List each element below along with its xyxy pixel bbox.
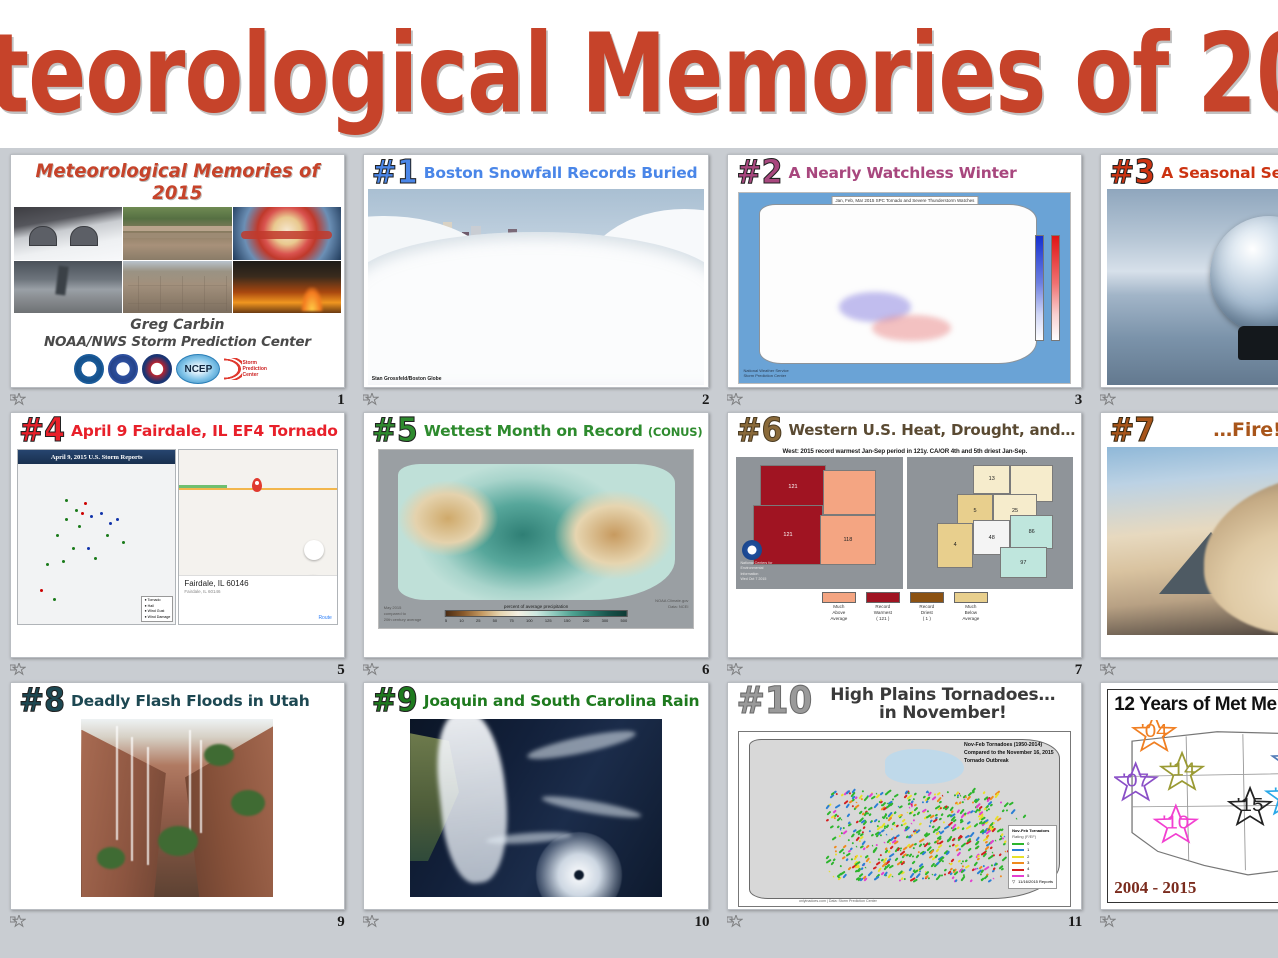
hurricane-eye: [536, 832, 622, 897]
slide5-hash-number: #4: [19, 416, 65, 447]
slide11-title-line2: in November!: [879, 705, 1007, 723]
map-source: NOAA Climate.gov Data: NCEI: [655, 598, 688, 610]
slide6-title: Wettest Month on Record: [424, 422, 643, 440]
slide8-title: …Fire!: [1213, 421, 1278, 441]
slide-thumbnail-7[interactable]: #6 Western U.S. Heat, Drought, and… West…: [727, 412, 1082, 658]
star-rating-icon[interactable]: [363, 393, 379, 407]
slide1-title: Meteorological Memories of 2015: [22, 158, 332, 207]
year-star-12: [1273, 742, 1278, 778]
slide-number: 6: [702, 662, 710, 679]
slide10-title: Joaquin and South Carolina Rain: [424, 693, 700, 709]
slide8-hash-number: #7: [1109, 416, 1155, 447]
slide4-title-bar: #3 A Seasonal Severe Wx Forecast: [1101, 155, 1278, 189]
slide11-hash-number: #10: [736, 686, 812, 717]
heat-drought-legend: Much Above Average Record Warmest ( 121 …: [728, 592, 1081, 623]
crystal-ball: [1210, 216, 1278, 334]
slide-meta-10: 10: [363, 912, 710, 932]
year-star-label: '10: [1163, 812, 1190, 833]
dry-wa: 13: [973, 465, 1010, 494]
slide-thumbnail-5[interactable]: #4 April 9 Fairdale, IL EF4 Tornado Apri…: [10, 412, 345, 658]
slide-meta-8: 8: [1100, 660, 1278, 680]
spc-logo-text: Storm Prediction Center: [243, 360, 281, 379]
slide9-title-bar: #8 Deadly Flash Floods in Utah: [11, 683, 344, 717]
map-footer: National Weather Service Storm Predictio…: [743, 368, 788, 379]
slide-cell-12: 12 Years of Met Memories '04'07'14'10'15…: [1094, 682, 1278, 934]
place-card: Fairdale, IL 60146 Fairdale, IL 60146 Ro…: [179, 575, 336, 624]
slide6-title-suffix: (CONUS): [648, 425, 703, 439]
slide1-photo-grid: [14, 207, 341, 313]
year-star-label: '07: [1122, 770, 1149, 791]
slide6-hash-number: #5: [372, 416, 418, 447]
photo-wildfire: [233, 261, 341, 314]
slide10-hash-number: #9: [372, 686, 418, 717]
slide12-title: 12 Years of Met Memories: [1114, 694, 1278, 716]
slide-meta-5: 5: [10, 660, 345, 680]
slide-cell-8: #7 …Fire! 8: [1094, 412, 1278, 682]
slide-number: 7: [1075, 662, 1083, 679]
crystal-ball-base: [1238, 326, 1278, 360]
map-met-memories-by-year: '04'07'14'10'15'12'06'05'08'09'11'13: [1114, 720, 1278, 896]
slide8-title-bar: #7 …Fire!: [1101, 413, 1278, 447]
slide-cell-2: #1 Boston Snowfall Records Buried Stan G…: [357, 154, 716, 412]
slide-meta-9: 9: [10, 912, 345, 932]
year-star-label: '15: [1237, 795, 1264, 816]
colorbar-negative: [1035, 235, 1044, 341]
photo-tornado-damage: [14, 261, 122, 314]
legend-item-record-driest: Record Driest ( 1 ): [910, 592, 944, 623]
satellite-image-hurricane-joaquin: [410, 719, 662, 897]
slide3-hash-number: #2: [736, 158, 782, 189]
warm-region-sw: 121: [753, 505, 823, 566]
national-weather-service-logo-icon: [142, 354, 172, 384]
map-source: onlyinadoes.com | Data: Storm Prediction…: [799, 899, 877, 903]
slide-meta-2: 2: [363, 390, 710, 410]
colorbar-positive: [1051, 235, 1060, 341]
warm-region-south: 118: [820, 515, 877, 565]
slide7-hash-number: #6: [736, 416, 782, 447]
slide-number: 1: [337, 392, 345, 409]
slide-thumbnail-1[interactable]: Meteorological Memories of 2015 Greg Car…: [10, 154, 345, 388]
slide-thumbnail-6[interactable]: #5 Wettest Month on Record (CONUS) May 2…: [363, 412, 710, 658]
slide12-year-range: 2004 - 2015: [1114, 878, 1196, 898]
slide-cell-6: #5 Wettest Month on Record (CONUS) May 2…: [357, 412, 716, 682]
place-name: Fairdale, IL 60146: [184, 579, 331, 588]
slide2-hash-number: #1: [372, 158, 418, 189]
star-rating-icon[interactable]: [1100, 393, 1116, 407]
slide-thumbnail-3[interactable]: #2 A Nearly Watchless Winter Jan, Feb, M…: [727, 154, 1082, 388]
legend-item-much-below: Much Below Average: [954, 592, 988, 623]
slide-cell-3: #2 A Nearly Watchless Winter Jan, Feb, M…: [721, 154, 1088, 412]
star-rating-icon[interactable]: [10, 663, 26, 677]
slide6-title-bar: #5 Wettest Month on Record (CONUS): [364, 413, 709, 447]
slide2-title-bar: #1 Boston Snowfall Records Buried: [364, 155, 709, 189]
colorbar-ticks: 510 2550 75100 125150 200300 500: [445, 617, 628, 623]
photo-drought-cracked-earth: [123, 261, 231, 314]
map-percent-of-average-precipitation: May 2015 compared to 20th century averag…: [378, 449, 695, 629]
slide-cell-5: #4 April 9 Fairdale, IL EF4 Tornado Apri…: [4, 412, 351, 682]
agency-label: National Centers for Environmental Infor…: [740, 561, 772, 583]
slide-cell-10: #9 Joaquin and South Carolina Rain 10: [357, 682, 716, 934]
photo-credit: Stan Grossfeld/Boston Globe: [372, 376, 442, 382]
slide-number: 5: [337, 662, 345, 679]
slide-number: 2: [702, 392, 710, 409]
photo-snow-buried-cars: [14, 207, 122, 260]
slide-thumbnail-9[interactable]: #8 Deadly Flash Floods in Utah: [10, 682, 345, 910]
slide5-title: April 9 Fairdale, IL EF4 Tornado: [71, 423, 338, 439]
year-star-label: '05: [1274, 784, 1278, 805]
slide-meta-6: 6: [363, 660, 710, 680]
slide-cell-4: #3 A Seasonal Severe Wx Forecast 4: [1094, 154, 1278, 412]
slide1-organization: NOAA/NWS Storm Prediction Center: [14, 333, 341, 350]
noaa-logo-icon: [108, 354, 138, 384]
photo-zion-flash-flood-waterfalls: [81, 719, 273, 897]
dry-az: 97: [1000, 547, 1047, 579]
slide-cell-7: #6 Western U.S. Heat, Drought, and… West…: [721, 412, 1088, 682]
slide-thumbnail-11[interactable]: #10 High Plains Tornadoes… in November! …: [727, 682, 1082, 910]
year-star-label: '04: [1141, 721, 1168, 742]
star-rating-icon[interactable]: [1100, 915, 1116, 929]
map-caption: Jan, Feb, Mar 2015 SPC Tornado and Sever…: [831, 196, 978, 205]
slide1-author: Greg Carbin: [14, 313, 341, 333]
slide1-logo-row: NCEP Storm Prediction Center: [14, 350, 341, 384]
slide-number: 10: [694, 914, 709, 931]
slide-number: 3: [1075, 392, 1083, 409]
star-rating-icon[interactable]: [10, 915, 26, 929]
map-record-warmth: 121 121 118 National Centers for Environ…: [736, 457, 902, 589]
slide4-hash-number: #3: [1109, 158, 1155, 189]
slide5-title-bar: #4 April 9 Fairdale, IL EF4 Tornado: [11, 413, 344, 447]
slide-meta-11: 11: [727, 912, 1082, 932]
photo-boston-snow-skyline: Stan Grossfeld/Boston Globe: [368, 189, 705, 385]
ncep-logo-icon: NCEP: [176, 354, 220, 384]
warm-region-rockies: [823, 470, 876, 515]
star-rating-icon[interactable]: [363, 663, 379, 677]
heat-drought-maps: 121 121 118 National Centers for Environ…: [736, 457, 1073, 589]
star-rating-icon[interactable]: [1100, 663, 1116, 677]
star-rating-icon[interactable]: [10, 393, 26, 407]
slide-meta-3: 3: [727, 390, 1082, 410]
tornado-legend: Nov-Feb Tornadoes Rating (F/EF) 0 1 2 3 …: [1008, 825, 1057, 889]
smoke-plume: [1204, 473, 1278, 635]
google-map-inset: Fairdale, IL 60146 Fairdale, IL 60146 Ro…: [178, 449, 337, 625]
deck-title-text: Meteorological Memories of 2015: [0, 19, 1278, 129]
slide3-title: A Nearly Watchless Winter: [788, 165, 1016, 181]
slide-thumbnail-2[interactable]: #1 Boston Snowfall Records Buried Stan G…: [363, 154, 710, 388]
dry-ut: 86: [1010, 515, 1053, 549]
slide-meta-4: 4: [1100, 390, 1278, 410]
summary-frame: 12 Years of Met Memories '04'07'14'10'15…: [1107, 689, 1278, 903]
slide7-title: Western U.S. Heat, Drought, and…: [788, 423, 1075, 439]
map-winter-watches: Jan, Feb, Mar 2015 SPC Tornado and Sever…: [738, 192, 1071, 384]
slide-thumbnail-8[interactable]: #7 …Fire!: [1100, 412, 1278, 658]
star-rating-icon[interactable]: [727, 915, 743, 929]
star-rating-icon[interactable]: [727, 663, 743, 677]
slide-grid: Meteorological Memories of 2015 Greg Car…: [0, 148, 1278, 958]
storm-reports-composite: April 9, 2015 U.S. Storm Reports: [17, 449, 338, 625]
map-record-dryness: 13 5 25 4 48 86 97: [907, 457, 1073, 589]
slide-cell-11: #10 High Plains Tornadoes… in November! …: [721, 682, 1088, 934]
slide9-hash-number: #8: [19, 686, 65, 717]
slide-meta-7: 7: [727, 660, 1082, 680]
watch-anomaly-red: [872, 315, 951, 342]
photo-el-nino-sst-globe: [233, 207, 341, 260]
photo-flooded-road: [123, 207, 231, 260]
warm-region-nw: 121: [760, 465, 827, 510]
slide11-title-bar: #10 High Plains Tornadoes… in November!: [728, 683, 1081, 731]
place-subtitle: Fairdale, IL 60146: [184, 589, 331, 594]
air-force-weather-logo-icon: [74, 354, 104, 384]
storm-prediction-center-logo-icon: Storm Prediction Center: [224, 354, 280, 384]
slide-thumbnail-4[interactable]: #3 A Seasonal Severe Wx Forecast: [1100, 154, 1278, 388]
year-star-label: '14: [1169, 760, 1196, 781]
photo-wildfire-smoke-plume: [1107, 447, 1278, 635]
storm-reports-legend: ● Tornado● Hail● Wind Gust● Wind Damage: [141, 596, 173, 622]
slide-cell-1: Meteorological Memories of 2015 Greg Car…: [4, 154, 351, 412]
route-link[interactable]: Route: [318, 615, 331, 621]
storm-reports-header: April 9, 2015 U.S. Storm Reports: [18, 450, 175, 464]
slide-meta-12: 12: [1100, 912, 1278, 932]
year-stars-layer: '04'07'14'10'15'12'06'05'08'09'11'13: [1114, 720, 1278, 896]
recenter-button[interactable]: [304, 540, 324, 560]
slide-number: 9: [337, 914, 345, 931]
photo-crystal-ball-lake: [1107, 189, 1278, 385]
map-note: May 2015 compared to 20th century averag…: [384, 605, 422, 623]
slide-number: 11: [1068, 914, 1082, 931]
deck-title-banner: Meteorological Memories of 2015: [0, 0, 1278, 148]
slide-cell-9: #8 Deadly Flash Floods in Utah 9: [4, 682, 351, 934]
slide9-title: Deadly Flash Floods in Utah: [71, 693, 310, 709]
ncep-logo-text: NCEP: [176, 354, 220, 384]
star-rating-icon[interactable]: [727, 393, 743, 407]
map-nov-feb-tornado-tracks: Nov-Feb Tornadoes (1950-2014) Compared t…: [738, 731, 1071, 907]
slide-meta-1: 1: [10, 390, 345, 410]
slide-thumbnail-10[interactable]: #9 Joaquin and South Carolina Rain: [363, 682, 710, 910]
slide7-title-bar: #6 Western U.S. Heat, Drought, and…: [728, 413, 1081, 447]
map-pin-icon: [252, 478, 262, 492]
dry-ca: 4: [937, 523, 974, 568]
colorbar-title: percent of average precipitation: [445, 604, 628, 609]
precip-colorbar: percent of average precipitation 510 255…: [445, 604, 628, 623]
star-rating-icon[interactable]: [363, 915, 379, 929]
legend-item-much-above: Much Above Average: [822, 592, 856, 623]
slide10-title-bar: #9 Joaquin and South Carolina Rain: [364, 683, 709, 717]
slide2-title: Boston Snowfall Records Buried: [424, 165, 698, 181]
legend-item-record-warmest: Record Warmest ( 121 ): [866, 592, 900, 623]
slide3-title-bar: #2 A Nearly Watchless Winter: [728, 155, 1081, 189]
storm-reports-map: April 9, 2015 U.S. Storm Reports: [17, 449, 176, 625]
slide4-title: A Seasonal Severe Wx Forecast: [1161, 165, 1278, 181]
slide-thumbnail-12[interactable]: 12 Years of Met Memories '04'07'14'10'15…: [1100, 682, 1278, 910]
